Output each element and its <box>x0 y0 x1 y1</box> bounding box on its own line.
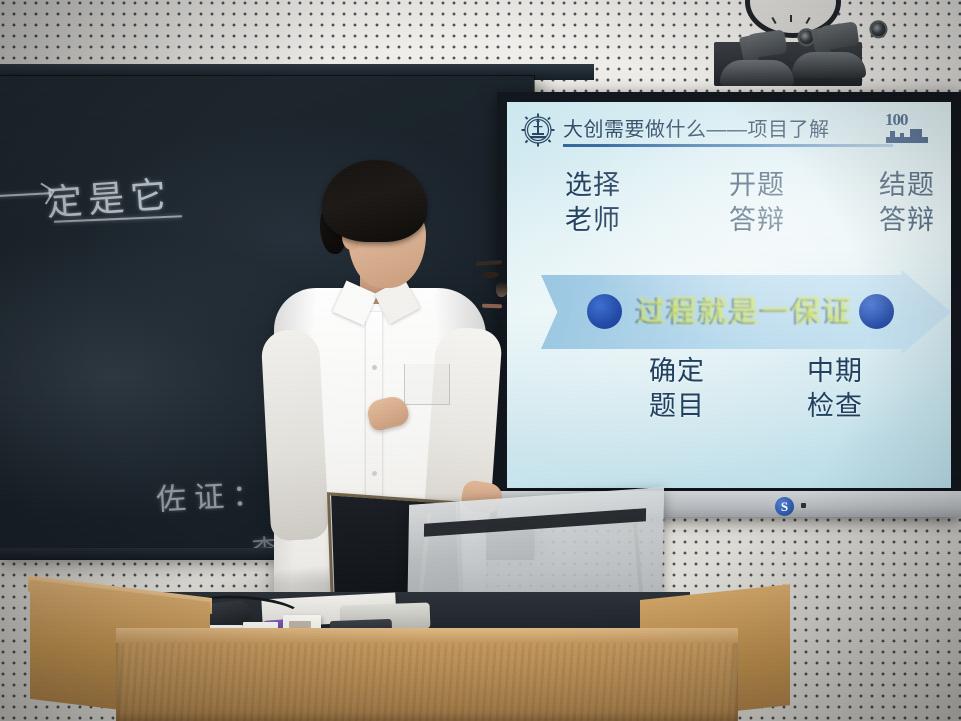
ptz-camera-right <box>792 26 866 78</box>
nose <box>496 281 508 297</box>
presentation-slide: 大创需要做什么——项目了解 100 选择老师 开题答辩 结题答辩 过程就是一 <box>507 102 951 488</box>
hair <box>322 160 427 242</box>
slide-title-underline <box>563 144 893 147</box>
shirt-pocket <box>404 364 450 405</box>
chalk-text-secondary: 佐证： <box>155 469 271 519</box>
milestone-dot-left <box>587 294 622 329</box>
stage-label-confirm-topic: 确定题目 <box>649 354 705 424</box>
eye <box>481 272 499 279</box>
display-power-led <box>801 503 806 508</box>
eyebrow <box>476 260 502 266</box>
interactive-flat-panel-display[interactable]: 大创需要做什么——项目了解 100 选择老师 开题答辩 结题答辩 过程就是一 <box>497 92 961 516</box>
stage-label-midterm-check: 中期检查 <box>807 354 863 424</box>
stage-label-proposal-defense: 开题答辩 <box>729 168 785 238</box>
stage-label-final-defense: 结题答辩 <box>879 168 935 238</box>
ptz-camera-left <box>720 34 794 86</box>
slide-header: 大创需要做什么——项目了解 100 <box>507 110 951 154</box>
campus-building-icon <box>886 127 928 143</box>
chalk-arrow-icon <box>0 192 50 197</box>
stage-label-select-advisor: 选择老师 <box>565 168 621 238</box>
anniversary-badge: 100 <box>885 112 933 146</box>
process-arrow-banner: 过程就是一保证 过程就是一保证 <box>541 270 951 354</box>
classroom-photo: 定是它 佐证： 查询 <box>0 0 961 721</box>
university-gear-emblem-icon <box>520 112 556 148</box>
arrow-overlay-text: 过程就是一保证 <box>637 292 867 332</box>
milestone-dot-right <box>859 294 894 329</box>
mouth <box>482 304 502 309</box>
chalk-underline <box>54 215 182 223</box>
display-brand-logo: S <box>775 497 794 516</box>
podium-edge-lip <box>116 628 738 643</box>
slide-title: 大创需要做什么——项目了解 <box>563 113 830 142</box>
left-arm <box>261 329 330 542</box>
